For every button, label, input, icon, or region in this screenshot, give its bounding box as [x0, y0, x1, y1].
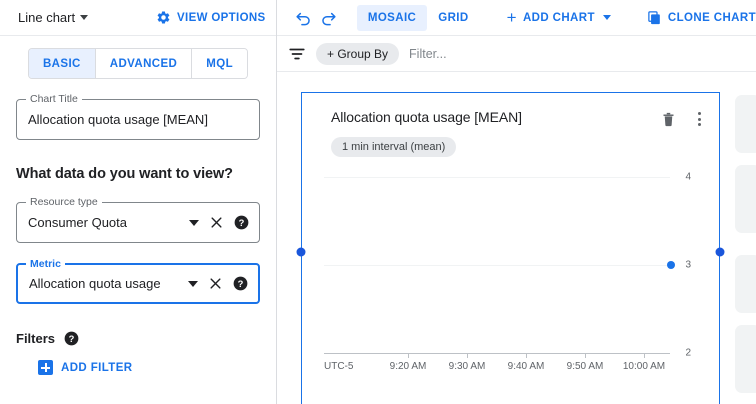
chart-title-value: Allocation quota usage [MEAN]	[28, 112, 251, 127]
layout-mode-mosaic[interactable]: MOSAIC	[357, 5, 427, 31]
chevron-down-icon	[188, 281, 198, 287]
chart-card-title: Allocation quota usage [MEAN]	[331, 109, 661, 125]
x-tick-3	[526, 354, 527, 358]
metric-help-button[interactable]: ?	[233, 276, 248, 291]
resource-type-dropdown-button[interactable]	[189, 220, 199, 226]
x-tick-1	[408, 354, 409, 358]
copy-icon	[647, 10, 662, 25]
chart-canvas: Allocation quota usage [MEAN]	[277, 72, 756, 404]
interval-chip[interactable]: 1 min interval (mean)	[331, 137, 456, 157]
chart-chip-row: 1 min interval (mean)	[302, 128, 719, 157]
tab-mql-label: MQL	[206, 58, 233, 70]
chart-workspace: MOSAIC GRID + ADD CHART CLONE CHART	[277, 0, 756, 404]
close-icon	[209, 277, 222, 290]
x-tick-4	[585, 354, 586, 358]
data-section-heading: What data do you want to view?	[16, 166, 260, 182]
trash-icon[interactable]	[661, 112, 676, 127]
chevron-down-icon	[80, 15, 88, 20]
svg-text:?: ?	[69, 334, 75, 344]
plus-icon: +	[507, 9, 517, 26]
metric-dropdown-button[interactable]	[188, 281, 198, 287]
group-by-label: + Group By	[327, 47, 388, 61]
x-tick-label-4: 9:50 AM	[567, 361, 604, 372]
metric-label: Metric	[26, 258, 65, 270]
chart-title-field[interactable]: Chart Title Allocation quota usage [MEAN…	[16, 99, 260, 140]
add-filter-label: ADD FILTER	[61, 362, 133, 374]
gridline-3	[324, 265, 670, 266]
chart-type-label: Line chart	[18, 10, 75, 25]
config-panel-header: Line chart VIEW OPTIONS	[0, 0, 276, 36]
resource-type-value: Consumer Quota	[28, 215, 189, 230]
y-tick-label-3: 3	[685, 260, 691, 271]
config-form: Chart Title Allocation quota usage [MEAN…	[0, 99, 276, 375]
metric-icons: ?	[188, 276, 250, 291]
chart-card[interactable]: Allocation quota usage [MEAN]	[301, 92, 720, 404]
y-tick-label-4: 4	[685, 172, 691, 183]
more-options-icon[interactable]	[694, 110, 705, 128]
x-tick-label-5: 10:00 AM	[623, 361, 665, 372]
resource-type-clear-button[interactable]	[210, 216, 223, 229]
layout-mode-group: MOSAIC GRID	[357, 5, 480, 31]
help-icon: ?	[233, 276, 248, 291]
help-icon: ?	[234, 215, 249, 230]
metric-clear-button[interactable]	[209, 277, 222, 290]
resize-handle-right[interactable]	[716, 248, 725, 257]
config-tabs: BASIC ADVANCED MQL	[28, 48, 248, 79]
close-icon	[210, 216, 223, 229]
add-filter-button[interactable]: ADD FILTER	[38, 360, 260, 375]
tab-basic[interactable]: BASIC	[29, 49, 96, 78]
ghost-card-4[interactable]	[735, 325, 756, 393]
ghost-card-3[interactable]	[735, 255, 756, 313]
filters-help-button[interactable]: ?	[64, 331, 79, 346]
timezone-label: UTC-5	[324, 361, 353, 372]
filters-section-header: Filters ?	[16, 331, 260, 346]
x-tick-2	[467, 354, 468, 358]
chart-title-label: Chart Title	[26, 93, 82, 105]
x-tick-label-1: 9:20 AM	[390, 361, 427, 372]
view-options-label: VIEW OPTIONS	[177, 12, 266, 24]
help-icon: ?	[64, 331, 79, 346]
x-tick-label-3: 9:40 AM	[508, 361, 545, 372]
tab-basic-label: BASIC	[43, 58, 81, 70]
metric-field[interactable]: Metric Allocation quota usage ?	[16, 263, 260, 304]
undo-button[interactable]	[291, 3, 316, 33]
filters-label: Filters	[16, 331, 55, 346]
resource-type-field[interactable]: Resource type Consumer Quota ?	[16, 202, 260, 243]
tab-mql[interactable]: MQL	[192, 49, 247, 78]
filter-input[interactable]: Filter...	[409, 47, 447, 61]
plus-icon	[38, 360, 53, 375]
metric-value: Allocation quota usage	[29, 276, 188, 291]
chart-plot-area: 4 3 2 UTC-5 9:20 AM 9:30 AM 9:40 AM 9:	[302, 169, 719, 404]
resource-type-icons: ?	[189, 215, 251, 230]
chart-config-panel: Line chart VIEW OPTIONS BASIC ADVANCED M	[0, 0, 277, 404]
layout-mode-grid[interactable]: GRID	[427, 5, 479, 31]
data-point[interactable]	[667, 261, 675, 269]
x-tick-label-2: 9:30 AM	[449, 361, 486, 372]
tab-advanced[interactable]: ADVANCED	[96, 49, 193, 78]
chart-editor-app: Line chart VIEW OPTIONS BASIC ADVANCED M	[0, 0, 756, 404]
chevron-down-icon	[603, 15, 611, 20]
add-chart-label: ADD CHART	[523, 12, 595, 24]
layout-mode-grid-label: GRID	[438, 12, 468, 24]
filter-bar: + Group By Filter...	[277, 36, 756, 72]
y-tick-label-2: 2	[685, 348, 691, 359]
chart-card-actions	[661, 109, 705, 128]
redo-icon	[319, 8, 338, 27]
clone-chart-label: CLONE CHART	[668, 12, 756, 24]
svg-text:?: ?	[239, 218, 245, 228]
view-options-button[interactable]: VIEW OPTIONS	[156, 10, 266, 25]
resize-handle-left[interactable]	[297, 248, 306, 257]
redo-button[interactable]	[316, 3, 341, 33]
chart-card-header: Allocation quota usage [MEAN]	[302, 93, 719, 128]
svg-text:?: ?	[238, 279, 244, 289]
undo-icon	[294, 8, 313, 27]
filter-icon[interactable]	[288, 45, 306, 63]
ghost-card-1[interactable]	[735, 95, 756, 153]
workspace-toolbar: MOSAIC GRID + ADD CHART CLONE CHART	[277, 0, 756, 36]
chevron-down-icon	[189, 220, 199, 226]
group-by-chip[interactable]: + Group By	[316, 43, 399, 65]
gridline-4	[324, 177, 670, 178]
tab-advanced-label: ADVANCED	[110, 58, 178, 70]
resource-type-help-button[interactable]: ?	[234, 215, 249, 230]
clone-chart-button[interactable]: CLONE CHART	[647, 10, 756, 25]
add-chart-button[interactable]: + ADD CHART	[507, 10, 611, 26]
x-tick-5	[644, 354, 645, 358]
resource-type-label: Resource type	[26, 196, 102, 208]
x-axis-line	[324, 353, 670, 354]
layout-mode-mosaic-label: MOSAIC	[368, 12, 416, 24]
gear-icon	[156, 10, 171, 25]
chart-type-dropdown[interactable]: Line chart	[18, 10, 88, 25]
config-tabs-container: BASIC ADVANCED MQL	[0, 36, 276, 79]
ghost-card-2[interactable]	[735, 165, 756, 233]
